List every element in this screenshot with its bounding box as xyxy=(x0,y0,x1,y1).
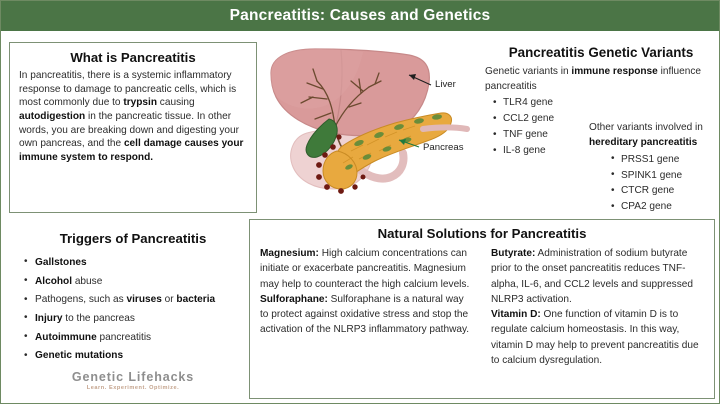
natural-item-right-text: Butyrate: Administration of sodium butyr… xyxy=(491,246,704,307)
anatomy-svg xyxy=(263,41,487,213)
brand-name: Genetic Lifehacks xyxy=(9,370,257,384)
natural-item-left-term: Sulforaphane: xyxy=(260,294,328,305)
natural-item-right: Butyrate: Administration of sodium butyr… xyxy=(491,246,704,307)
natural-solutions-columns: Magnesium: High calcium concentrations c… xyxy=(260,246,704,369)
trigger-2-run-1: viruses xyxy=(126,294,161,305)
immune-gene-item: TNF gene xyxy=(491,127,595,143)
natural-item-left-text: Magnesium: High calcium concentrations c… xyxy=(260,246,473,292)
panel-what-is-pancreatitis: What is Pancreatitis In pancreatitis, th… xyxy=(9,42,257,213)
hereditary-group: Other variants involved in hereditary pa… xyxy=(589,121,719,215)
natural-item-left: Magnesium: High calcium concentrations c… xyxy=(260,246,473,292)
panel-natural-solutions: Natural Solutions for Pancreatitis Magne… xyxy=(249,219,715,399)
trigger-4-run-0: Autoimmune xyxy=(35,332,97,343)
genetics-intro: Genetic variants in immune response infl… xyxy=(485,64,717,94)
infographic-page: Pancreatitis: Causes and Genetics What i… xyxy=(0,0,720,404)
trigger-item: Gallstones xyxy=(17,254,249,273)
immune-gene-item: TLR4 gene xyxy=(491,95,595,111)
natural-item-left-text: Sulforaphane: Sulforaphane is a natural … xyxy=(260,292,473,338)
trigger-item: Pathogens, such as viruses or bacteria xyxy=(17,291,249,310)
trigger-2-run-3: bacteria xyxy=(176,294,215,305)
natural-item-right-term: Vitamin D: xyxy=(491,309,541,320)
trigger-0-run-0: Gallstones xyxy=(35,257,87,268)
natural-column-right: Butyrate: Administration of sodium butyr… xyxy=(491,246,704,369)
natural-item-right: Vitamin D: One function of vitamin D is … xyxy=(491,307,704,368)
what-is-paragraph: In pancreatitis, there is a systemic inf… xyxy=(19,69,247,165)
trigger-item: Alcohol abuse xyxy=(17,273,249,292)
trigger-3-run-1: to the pancreas xyxy=(62,313,134,324)
anatomy-label-pancreas: Pancreas xyxy=(423,142,464,153)
hereditary-gene-item: PRSS1 gene xyxy=(609,152,719,168)
what-is-text-run-2: causing xyxy=(157,97,195,108)
anatomy-illustration: Liver Pancreas xyxy=(263,41,487,213)
what-is-text-run-3: autodigestion xyxy=(19,111,85,122)
anatomy-label-liver: Liver xyxy=(435,79,456,90)
hereditary-intro-text-run-1: hereditary pancreatitis xyxy=(589,137,697,148)
brand-lockup: Genetic Lifehacks Learn. Experiment. Opt… xyxy=(9,370,257,391)
trigger-item: Genetic mutations xyxy=(17,347,249,366)
natural-item-left-term: Magnesium: xyxy=(260,248,319,259)
immune-gene-item: IL-8 gene xyxy=(491,143,595,159)
hereditary-gene-item: CTCR gene xyxy=(609,183,719,199)
trigger-item: Autoimmune pancreatitis xyxy=(17,329,249,348)
natural-solutions-title: Natural Solutions for Pancreatitis xyxy=(260,226,704,242)
natural-item-right-term: Butyrate: xyxy=(491,248,535,259)
panel-triggers: Triggers of Pancreatitis GallstonesAlcoh… xyxy=(9,219,257,397)
trigger-4-run-1: pancreatitis xyxy=(97,332,151,343)
trigger-2-run-0: Pathogens, such as xyxy=(35,294,126,305)
natural-column-left: Magnesium: High calcium concentrations c… xyxy=(260,246,473,369)
immune-gene-list: TLR4 geneCCL2 geneTNF geneIL-8 gene xyxy=(491,95,595,159)
brand-tagline: Learn. Experiment. Optimize. xyxy=(9,385,257,391)
genetics-intro-text-run-0: Genetic variants in xyxy=(485,66,571,77)
genetics-title: Pancreatitis Genetic Variants xyxy=(485,45,717,61)
immune-gene-item: CCL2 gene xyxy=(491,111,595,127)
trigger-2-run-2: or xyxy=(162,294,177,305)
panel-genetic-variants: Pancreatitis Genetic Variants Genetic va… xyxy=(485,45,717,215)
header-banner: Pancreatitis: Causes and Genetics xyxy=(1,1,719,31)
trigger-5-run-0: Genetic mutations xyxy=(35,350,123,361)
what-is-title: What is Pancreatitis xyxy=(19,50,247,66)
trigger-3-run-0: Injury xyxy=(35,313,62,324)
triggers-title: Triggers of Pancreatitis xyxy=(17,231,249,247)
hereditary-intro: Other variants involved in hereditary pa… xyxy=(589,121,719,150)
genetics-intro-text-run-1: immune response xyxy=(571,66,657,77)
natural-item-right-text: Vitamin D: One function of vitamin D is … xyxy=(491,307,704,368)
triggers-list: GallstonesAlcohol abusePathogens, such a… xyxy=(17,254,249,366)
trigger-item: Injury to the pancreas xyxy=(17,310,249,329)
natural-item-left: Sulforaphane: Sulforaphane is a natural … xyxy=(260,292,473,338)
hereditary-gene-item: CPA2 gene xyxy=(609,199,719,215)
hereditary-intro-text-run-0: Other variants involved in xyxy=(589,122,703,133)
trigger-1-run-0: Alcohol xyxy=(35,276,72,287)
page-title: Pancreatitis: Causes and Genetics xyxy=(230,7,491,25)
hereditary-gene-list: PRSS1 geneSPINK1 geneCTCR geneCPA2 gene xyxy=(589,152,719,216)
what-is-text-run-1: trypsin xyxy=(123,97,157,108)
trigger-1-run-1: abuse xyxy=(72,276,102,287)
hereditary-gene-item: SPINK1 gene xyxy=(609,168,719,184)
